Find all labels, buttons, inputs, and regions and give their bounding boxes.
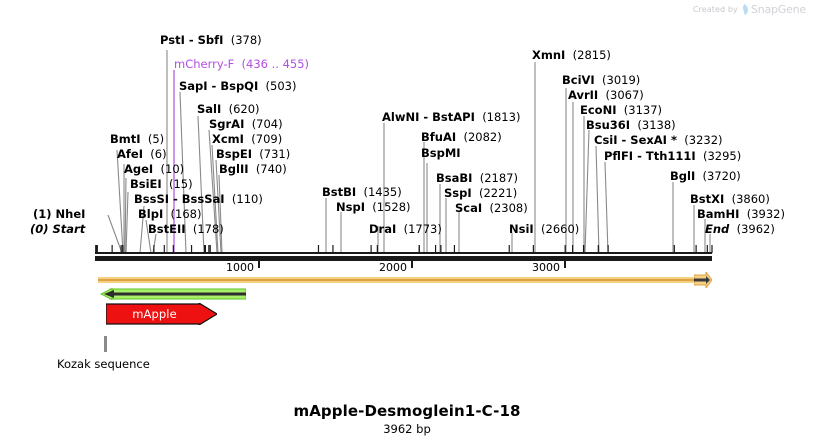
plasmid-title: mApple-Desmoglein1-C-18 [0,402,814,420]
site-label-sspI[interactable]: SspI (2221) [444,187,517,199]
plasmid-length: 3962 bp [0,422,814,436]
site-label-bglI[interactable]: BglI (3720) [670,170,741,182]
site-label-bspMI[interactable]: BspMI [421,147,461,159]
snapgene-logo-icon [741,4,748,15]
plasmid-map: Created by SnapGene [0,0,814,446]
site-label-bsaBI[interactable]: BsaBI (2187) [436,172,518,184]
ruler-tick-2000 [411,259,413,268]
site-label-nspI[interactable]: NspI (1528) [336,201,411,213]
feature-mapple-arrow[interactable]: mApple [106,303,217,325]
orf-extent-line[interactable] [98,277,700,283]
orf-arrowhead-right-icon [694,272,712,288]
ruler-tick-1000 [258,259,260,268]
site-label-afeI[interactable]: AfeI (6) [117,148,167,160]
site-label-bciVI[interactable]: BciVI (3019) [562,74,640,86]
site-label-draI[interactable]: DraI (1773) [369,223,442,235]
site-label-bstXI[interactable]: BstXI (3860) [690,193,770,205]
site-label-bstEII[interactable]: BstEII (178) [148,223,224,235]
watermark-created-by: Created by [693,5,738,14]
backbone-line-top [95,252,712,254]
site-label-end[interactable]: End (3962) [705,223,775,235]
kozak-feature-tick[interactable] [104,336,107,352]
site-label-csiI-sexAI[interactable]: CsiI - SexAI * (3232) [594,134,723,146]
feature-mapple-label: mApple [106,303,217,325]
site-label-bglII[interactable]: BglII (740) [219,163,287,175]
site-label-pstI-sbfI[interactable]: PstI - SbfI (378) [160,34,262,46]
site-label-bspEI[interactable]: BspEI (731) [216,148,290,160]
site-label-salI[interactable]: SalI (620) [197,103,260,115]
site-label-scaI[interactable]: ScaI (2308) [455,202,528,214]
site-label-mcherry-f[interactable]: mCherry-F (436 .. 455) [174,58,309,70]
site-label-bfuAI[interactable]: BfuAI (2082) [421,131,502,143]
site-label-alwNI-bstAPI[interactable]: AlwNI - BstAPI (1813) [382,111,520,123]
site-label-xcmI[interactable]: XcmI (709) [212,133,282,145]
site-label-sapI-bspQI[interactable]: SapI - BspQI (503) [179,80,296,92]
ruler-label-3000: 3000 [532,261,560,274]
watermark-brand: SnapGene [751,3,806,16]
site-label-nheI[interactable]: (1) NheI [33,208,85,220]
site-label-blpI[interactable]: BlpI (168) [138,208,201,220]
site-label-bsiEI[interactable]: BsiEI (15) [130,178,193,190]
ruler-label-1000: 1000 [226,261,254,274]
snapgene-watermark: Created by SnapGene [693,3,806,16]
site-label-pflFI-tth111I[interactable]: PflFI - Tth111I (3295) [604,150,741,162]
kozak-sequence-label: Kozak sequence [57,357,150,371]
site-label-bssSI-bssSaI[interactable]: BssSI - BssSaI (110) [134,193,263,205]
site-label-nsiI[interactable]: NsiI (2660) [509,223,579,235]
site-label-xmnI[interactable]: XmnI (2815) [532,49,611,61]
feature-green-arrow-left[interactable] [100,288,246,300]
ruler-label-2000: 2000 [379,261,407,274]
site-label-bstBI[interactable]: BstBI (1435) [322,186,402,198]
site-label-start[interactable]: (0) Start [30,223,85,235]
site-label-ecoNI[interactable]: EcoNI (3137) [580,104,662,116]
site-label-bsu36I[interactable]: Bsu36I (3138) [586,119,676,131]
ruler-tick-3000 [564,259,566,268]
site-label-bamHI[interactable]: BamHI (3932) [697,208,785,220]
site-label-sgrAI[interactable]: SgrAI (704) [209,118,283,130]
site-label-ageI[interactable]: AgeI (10) [124,163,184,175]
site-label-bmtI[interactable]: BmtI (5) [110,133,164,145]
site-label-avrII[interactable]: AvrII (3067) [568,89,644,101]
